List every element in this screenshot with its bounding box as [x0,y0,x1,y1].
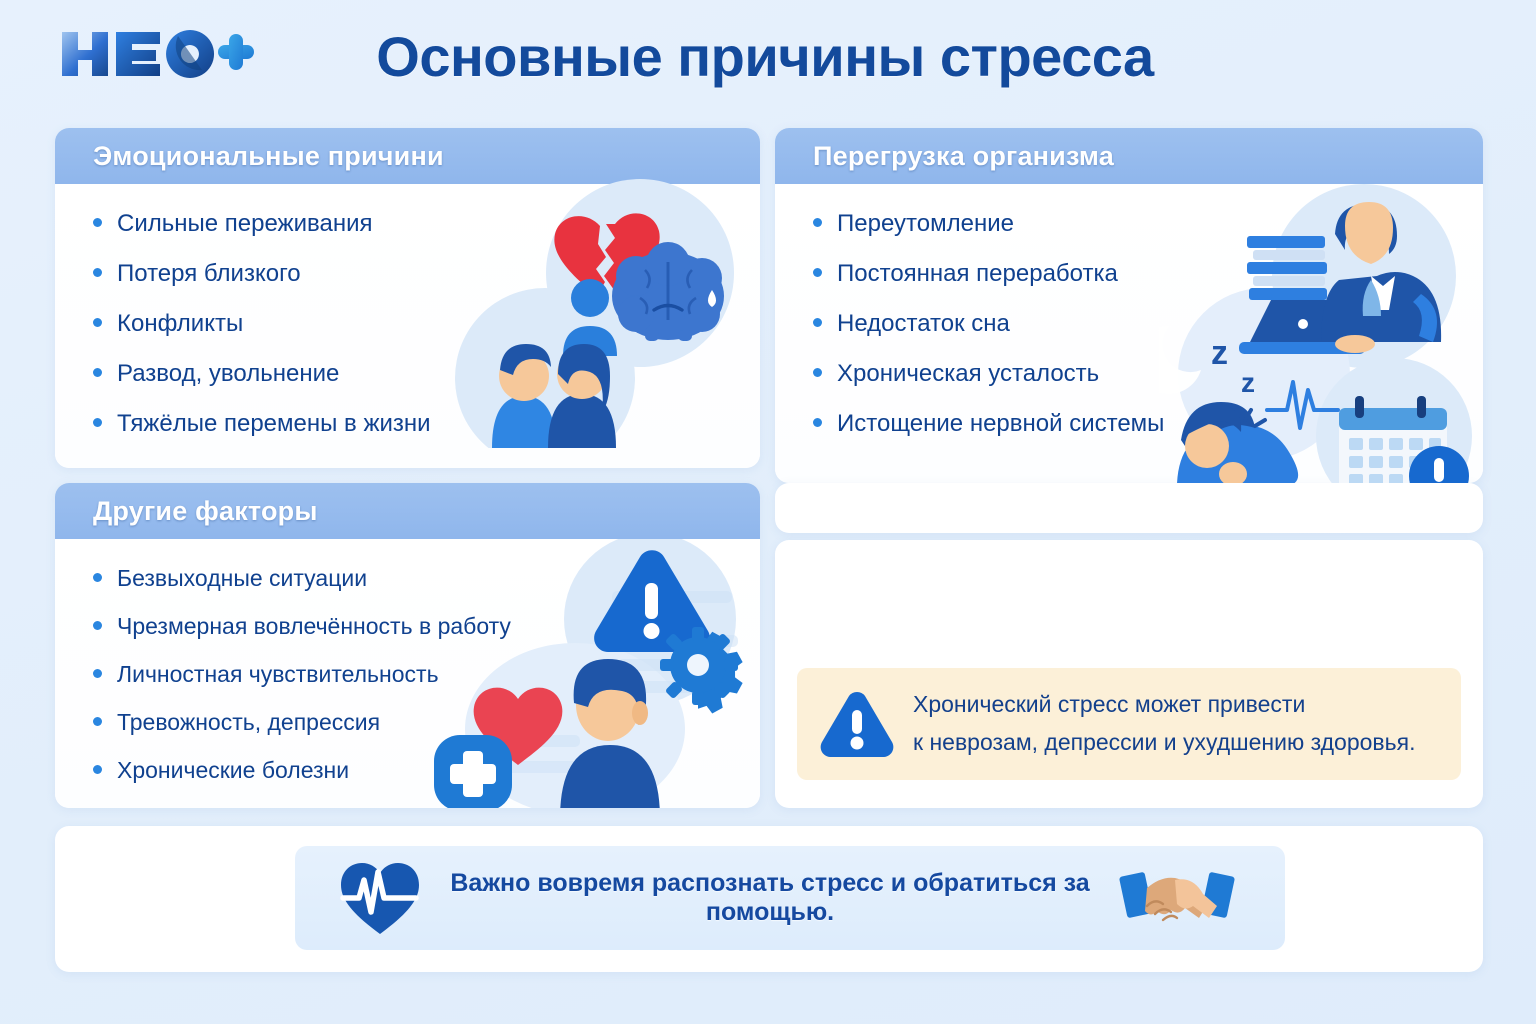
card-other-factors: Другие факторы [55,483,760,808]
list-item: Сильные переживания [93,210,760,238]
bullet-dot-icon [813,368,822,377]
bullet-dot-icon [93,268,102,277]
list-item-label: Развод, увольнение [117,360,339,388]
list-item-label: Потеря близкого [117,260,301,288]
card-title-emotional: Эмоциональные причини [93,141,444,172]
bullet-dot-icon [93,669,102,678]
bullet-dot-icon [93,573,102,582]
card-body-other: Безвыходные ситуации Чрезмерная вовлечён… [55,539,760,808]
page-title: Основные причины стресса [300,24,1230,89]
list-item: Тяжёлые перемены в жизни [93,410,760,438]
bullet-dot-icon [93,765,102,774]
infographic-page: Основные причины стресса Эмоциональные п… [0,0,1536,1024]
list-item: Хроническая усталость [813,360,1483,388]
handshake-icon [1117,858,1237,938]
card-header-other: Другие факторы [55,483,760,539]
list-item: Потеря близкого [93,260,760,288]
card-body-emotional: Сильные переживания Потеря близкого Конф… [55,184,760,468]
list-item-label: Тяжёлые перемены в жизни [117,410,431,438]
list-other-factors: Безвыходные ситуации Чрезмерная вовлечён… [55,539,760,784]
bullet-dot-icon [813,418,822,427]
list-item: Конфликты [93,310,760,338]
bullet-dot-icon [93,418,102,427]
list-item-label: Личностная чувствительность [117,661,439,688]
list-item-label: Недостаток сна [837,310,1010,338]
list-item: Недостаток сна [813,310,1483,338]
list-item-label: Сильные переживания [117,210,372,238]
card-title-overload: Перегрузка организма [813,141,1114,172]
bullet-dot-icon [93,717,102,726]
bullet-dot-icon [813,318,822,327]
bullet-dot-icon [93,368,102,377]
warning-banner: Хронический стресс может привести к невр… [797,668,1461,780]
brand-logo [58,26,258,88]
card-title-other: Другие факторы [93,496,318,527]
list-item: Постоянная переработка [813,260,1483,288]
card-emotional-causes: Эмоциональные причини [55,128,760,468]
bullet-dot-icon [93,218,102,227]
bullet-dot-icon [813,268,822,277]
list-emotional-causes: Сильные переживания Потеря близкого Конф… [55,184,760,438]
list-item-label: Конфликты [117,310,243,338]
list-item-label: Хроническая усталость [837,360,1099,388]
footer-text: Важно вовремя распознать стресс и обрати… [433,869,1107,927]
bullet-dot-icon [93,621,102,630]
list-item: Личностная чувствительность [93,661,760,688]
list-item-label: Тревожность, депрессия [117,709,380,736]
list-item-label: Чрезмерная вовлечённость в работу [117,613,511,640]
list-item-label: Хронические болезни [117,757,349,784]
card-body-overload-inner: z z [775,184,1483,483]
list-item: Чрезмерная вовлечённость в работу [93,613,760,640]
warning-line-2: к неврозам, депрессии и ухудшению здоров… [913,724,1415,762]
card-body-overload: Перегрузка организма [775,128,1483,483]
card-header-overload: Перегрузка организма [775,128,1483,184]
warning-line-1: Хронический стресс может привести [913,686,1415,724]
panel-spacer-right [775,483,1483,533]
list-item: Переутомление [813,210,1483,238]
list-item: Безвыходные ситуации [93,565,760,592]
bullet-dot-icon [93,318,102,327]
alert-triangle-icon [819,690,895,758]
list-item-label: Постоянная переработка [837,260,1118,288]
list-item: Тревожность, депрессия [93,709,760,736]
list-item: Развод, увольнение [93,360,760,388]
list-item: Хронические болезни [93,757,760,784]
heart-pulse-icon [337,858,423,938]
list-item: Истощение нервной системы [813,410,1483,438]
card-warning: Хронический стресс может привести к невр… [775,540,1483,808]
card-header-emotional: Эмоциональные причини [55,128,760,184]
card-footer: Важно вовремя распознать стресс и обрати… [55,826,1483,972]
alert-circle-icon [1409,446,1469,483]
warning-text: Хронический стресс может привести к невр… [913,686,1415,762]
list-item-label: Безвыходные ситуации [117,565,367,592]
list-overload-causes: Переутомление Постоянная переработка Нед… [775,184,1483,438]
list-item-label: Переутомление [837,210,1014,238]
list-item-label: Истощение нервной системы [837,410,1164,438]
footer-banner: Важно вовремя распознать стресс и обрати… [295,846,1285,950]
bullet-dot-icon [813,218,822,227]
